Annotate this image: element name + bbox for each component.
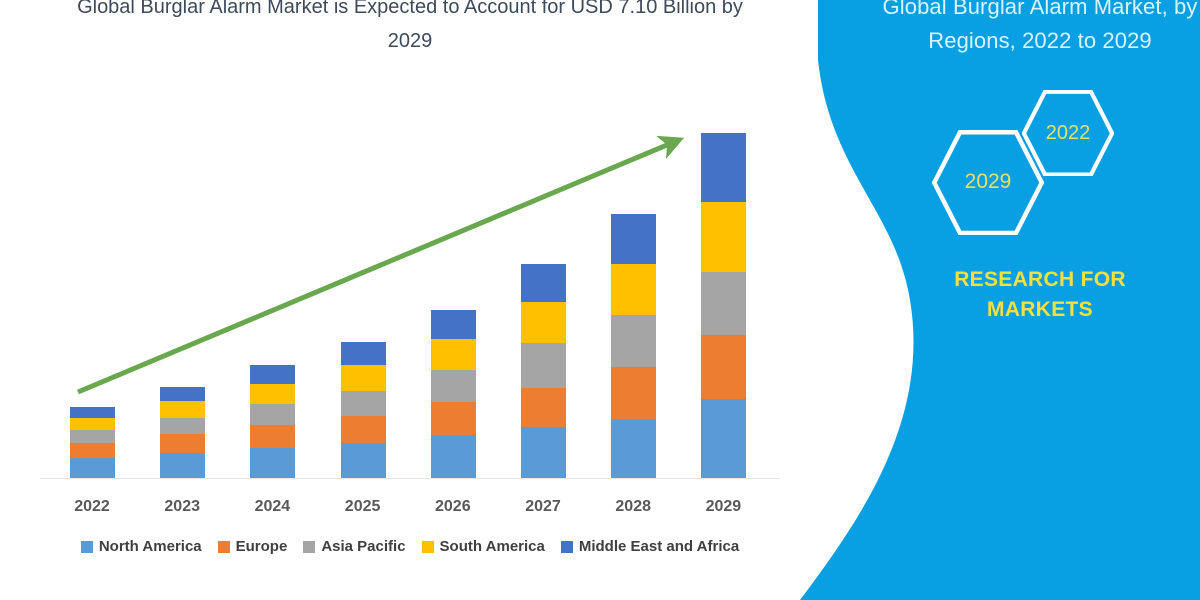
bar-segment-north-america[interactable]: [701, 399, 746, 478]
brand-line-2: MARKETS: [880, 295, 1200, 325]
bar-segment-north-america[interactable]: [70, 458, 115, 478]
x-tick-2024: 2024: [227, 498, 317, 516]
legend-item-europe[interactable]: Europe: [218, 538, 288, 555]
bar-2029[interactable]: [701, 133, 746, 478]
bar-segment-north-america[interactable]: [431, 435, 476, 478]
bar-segment-europe[interactable]: [341, 416, 386, 443]
x-tick-2026: 2026: [408, 498, 498, 516]
bar-segment-north-america[interactable]: [250, 448, 295, 478]
bar-segment-south-america[interactable]: [521, 302, 566, 343]
bar-segment-middle-east-and-africa[interactable]: [250, 365, 295, 383]
x-tick-2022: 2022: [47, 498, 137, 516]
hexagon-badge-2029-label: 2029: [965, 170, 1012, 194]
bar-segment-europe[interactable]: [160, 434, 205, 452]
brand-line-1: RESEARCH FOR: [880, 265, 1200, 295]
bar-segment-asia-pacific[interactable]: [341, 391, 386, 416]
bar-segment-south-america[interactable]: [70, 418, 115, 431]
legend-swatch-icon: [81, 541, 93, 553]
hexagon-badges: 2029 2022: [910, 90, 1180, 235]
brand-title: RESEARCH FOR MARKETS: [880, 265, 1200, 325]
hexagon-badge-2022: 2022: [1022, 90, 1114, 176]
bar-segment-europe[interactable]: [611, 367, 656, 419]
panel-content: Global Burglar Alarm Market, by Regions,…: [880, 0, 1200, 600]
legend-label: Europe: [236, 538, 288, 555]
bar-2026[interactable]: [431, 310, 476, 478]
bar-segment-asia-pacific[interactable]: [431, 370, 476, 402]
x-tick-2025: 2025: [318, 498, 408, 516]
bar-segment-south-america[interactable]: [701, 202, 746, 272]
x-tick-2029: 2029: [678, 498, 768, 516]
legend-item-south-america[interactable]: South America: [422, 538, 545, 555]
x-tick-2028: 2028: [588, 498, 678, 516]
bar-segment-europe[interactable]: [70, 443, 115, 458]
bar-segment-middle-east-and-africa[interactable]: [611, 214, 656, 265]
x-tick-2023: 2023: [137, 498, 227, 516]
bar-segment-europe[interactable]: [431, 402, 476, 435]
chart-legend: North AmericaEuropeAsia PacificSouth Ame…: [45, 538, 775, 555]
bar-2023[interactable]: [160, 387, 205, 478]
legend-item-north-america[interactable]: North America: [81, 538, 202, 555]
bar-segment-asia-pacific[interactable]: [521, 343, 566, 388]
bar-segment-middle-east-and-africa[interactable]: [341, 342, 386, 365]
legend-label: Middle East and Africa: [579, 538, 739, 555]
bar-segment-middle-east-and-africa[interactable]: [70, 407, 115, 418]
bar-2025[interactable]: [341, 342, 386, 478]
bar-segment-europe[interactable]: [701, 335, 746, 399]
legend-label: South America: [440, 538, 545, 555]
legend-swatch-icon: [303, 541, 315, 553]
chart-plot-area: Global Burglar Alarm Market is Expected …: [0, 0, 800, 600]
bar-segment-asia-pacific[interactable]: [250, 404, 295, 424]
legend-swatch-icon: [218, 541, 230, 553]
legend-label: Asia Pacific: [321, 538, 405, 555]
bar-2024[interactable]: [250, 365, 295, 478]
bar-segment-south-america[interactable]: [160, 401, 205, 418]
bar-segment-asia-pacific[interactable]: [611, 315, 656, 367]
bar-segment-middle-east-and-africa[interactable]: [160, 387, 205, 402]
legend-item-middle-east-and-africa[interactable]: Middle East and Africa: [561, 538, 739, 555]
bar-segment-asia-pacific[interactable]: [701, 272, 746, 335]
legend-item-asia-pacific[interactable]: Asia Pacific: [303, 538, 405, 555]
bar-2028[interactable]: [611, 214, 656, 478]
bar-segment-north-america[interactable]: [521, 427, 566, 478]
legend-swatch-icon: [561, 541, 573, 553]
bar-segment-asia-pacific[interactable]: [70, 430, 115, 443]
bar-segment-south-america[interactable]: [341, 365, 386, 390]
legend-label: North America: [99, 538, 202, 555]
bar-segment-south-america[interactable]: [431, 339, 476, 370]
bar-2027[interactable]: [521, 264, 566, 478]
x-axis-line: [40, 478, 780, 479]
x-tick-2027: 2027: [498, 498, 588, 516]
bar-segment-north-america[interactable]: [611, 419, 656, 478]
bar-segment-europe[interactable]: [521, 388, 566, 428]
legend-swatch-icon: [422, 541, 434, 553]
bar-segment-north-america[interactable]: [160, 453, 205, 478]
bar-segment-south-america[interactable]: [250, 384, 295, 404]
bar-segment-middle-east-and-africa[interactable]: [521, 264, 566, 302]
bar-segment-europe[interactable]: [250, 425, 295, 448]
bar-segment-south-america[interactable]: [611, 264, 656, 315]
bar-segment-asia-pacific[interactable]: [160, 418, 205, 435]
bar-segment-middle-east-and-africa[interactable]: [701, 133, 746, 202]
bar-segment-middle-east-and-africa[interactable]: [431, 310, 476, 339]
bar-segment-north-america[interactable]: [341, 443, 386, 478]
bar-2022[interactable]: [70, 407, 115, 478]
hexagon-badge-2022-label: 2022: [1046, 122, 1091, 145]
panel-title: Global Burglar Alarm Market, by Regions,…: [880, 0, 1200, 58]
market-chart-infographic: Global Burglar Alarm Market, by Regions,…: [0, 0, 1200, 600]
